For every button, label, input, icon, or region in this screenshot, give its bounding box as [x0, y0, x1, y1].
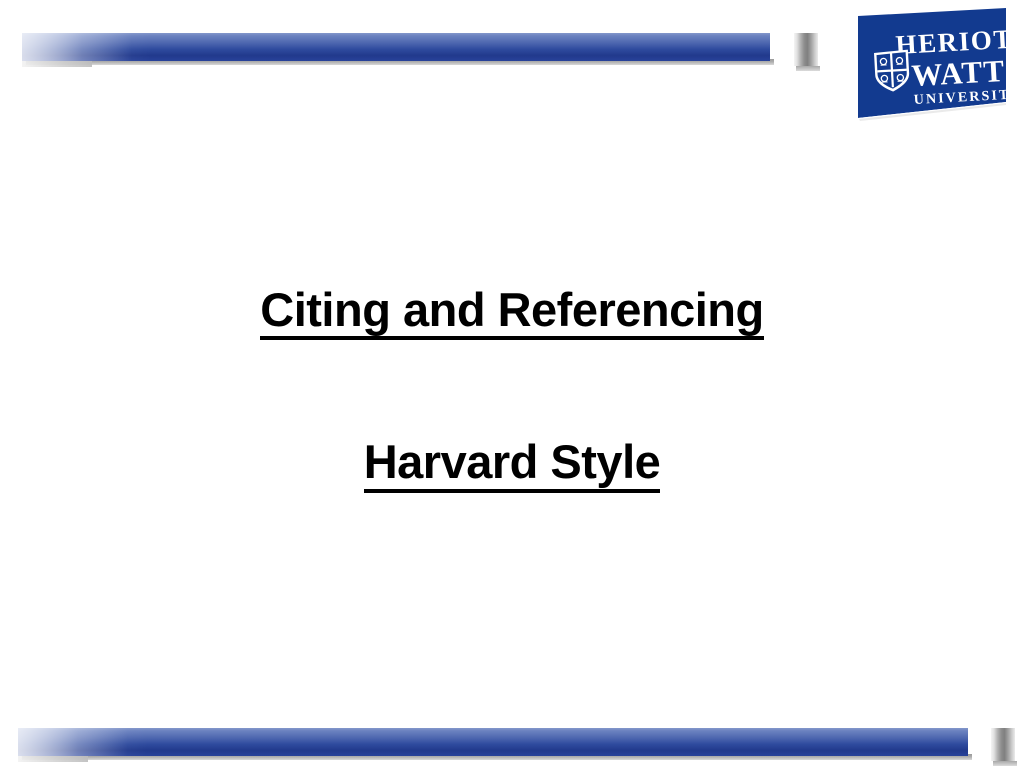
top-bar-end-block-shadow	[796, 66, 820, 71]
top-bar-highlight	[22, 33, 132, 61]
slide-title-line-2-text: Harvard Style	[364, 437, 661, 492]
top-bar-end-block	[794, 33, 818, 66]
svg-text:WATT: WATT	[910, 53, 1006, 93]
top-bar-fill	[22, 33, 770, 61]
slide-title-block: Citing and Referencing Harvard Style	[0, 282, 1024, 493]
slide-title-line-2: Harvard Style	[0, 434, 1024, 492]
top-decorative-bar	[22, 33, 770, 67]
bottom-decorative-bar	[18, 728, 968, 762]
bottom-bar-shadow-soft	[18, 755, 88, 762]
slide-title-line-1: Citing and Referencing	[0, 282, 1024, 340]
bottom-bar-end-block-shadow	[993, 761, 1017, 766]
bottom-bar-end-block	[991, 728, 1015, 761]
top-bar-shadow-soft	[22, 60, 92, 67]
bottom-bar-highlight	[18, 728, 128, 756]
bottom-bar-fill	[18, 728, 968, 756]
slide-title-line-1-text: Citing and Referencing	[260, 285, 763, 340]
heriot-watt-logo: HERIOT WATT UNIVERSITY	[856, 8, 1008, 126]
